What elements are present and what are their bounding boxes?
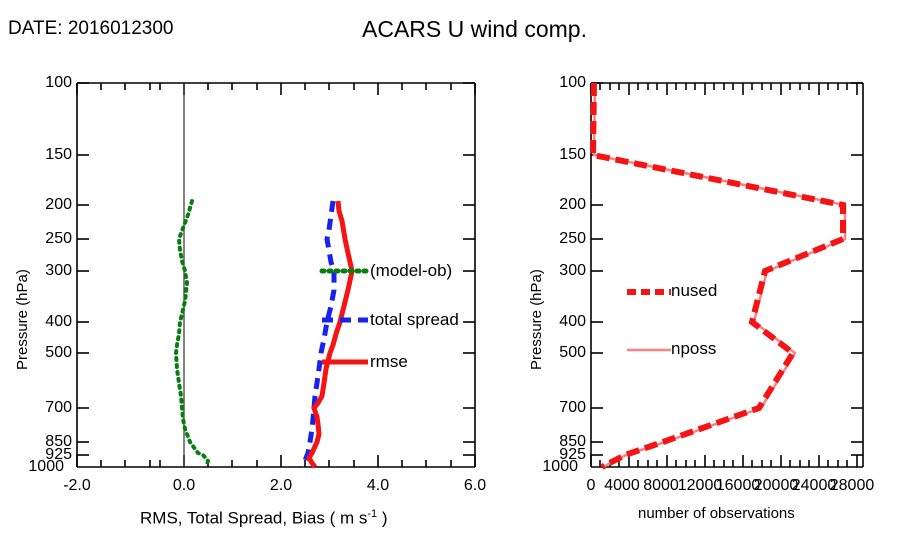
series-nused-line [593,83,843,467]
figure-canvas: DATE: 2016012300 ACARS U wind comp. Pres… [0,0,900,560]
right-y-ticks [591,83,863,455]
right-x-ticks [591,83,857,467]
series-nposs-line [594,83,845,467]
right-panel-plot [0,0,900,560]
legend-label-nused: nused [671,281,717,301]
right-axis-frame [591,83,863,467]
legend-label-nposs: nposs [671,339,716,359]
